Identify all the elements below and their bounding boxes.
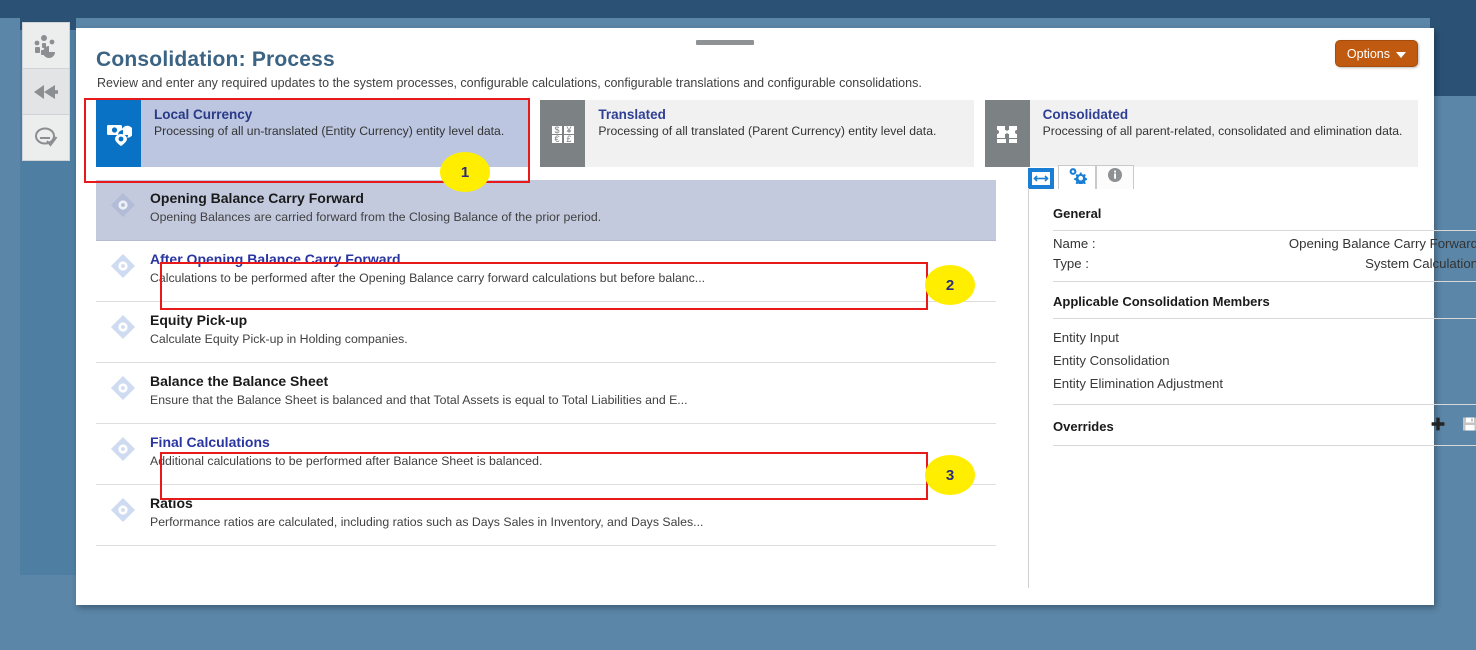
list-item: Entity Consolidation: [1053, 349, 1476, 372]
overrides-heading: Overrides: [1053, 419, 1414, 434]
table-row[interactable]: Balance the Balance Sheet Ensure that th…: [96, 363, 996, 424]
calculation-gear-diamond-icon: [96, 485, 150, 523]
process-card-description: Processing of all parent-related, consol…: [1043, 124, 1403, 139]
add-override-button[interactable]: [1430, 416, 1446, 437]
tab-info[interactable]: [1096, 165, 1134, 189]
panel-handle[interactable]: [696, 40, 754, 45]
list-item: Entity Input: [1053, 326, 1476, 349]
calculation-description: Opening Balances are carried forward fro…: [150, 209, 601, 225]
calculation-title: Equity Pick-up: [150, 311, 408, 329]
sidebar-item-consolidation-process[interactable]: [22, 68, 70, 115]
table-row[interactable]: Equity Pick-up Calculate Equity Pick-up …: [96, 302, 996, 363]
table-row[interactable]: Final Calculations Additional calculatio…: [96, 424, 996, 485]
panel-collapse-icon[interactable]: [1028, 168, 1054, 189]
people-chart-icon: [33, 34, 59, 58]
calculation-description: Calculate Equity Pick-up in Holding comp…: [150, 331, 408, 347]
process-card-description: Processing of all translated (Parent Cur…: [598, 124, 936, 139]
app-screen: Consolidation: Process Review and enter …: [0, 0, 1476, 650]
calculation-description: Ensure that the Balance Sheet is balance…: [150, 392, 688, 408]
calculation-title: Ratios: [150, 494, 703, 512]
panel-tabbar: [1028, 164, 1134, 189]
calculation-title: Final Calculations: [150, 433, 542, 451]
calculation-list: Opening Balance Carry Forward Opening Ba…: [96, 180, 996, 546]
sidebar-item-dimensions[interactable]: [22, 22, 70, 69]
process-card-consolidated[interactable]: Consolidated Processing of all parent-re…: [985, 100, 1418, 167]
options-button[interactable]: Options: [1335, 40, 1418, 67]
overrides-section-header: Overrides: [1053, 405, 1476, 445]
general-heading: General: [1053, 206, 1476, 230]
field-name: Name : Opening Balance Carry Forward: [1053, 231, 1476, 251]
add-icon: [1430, 416, 1446, 437]
properties-gear-icon: [1068, 167, 1087, 189]
field-type: Type : System Calculation: [1053, 251, 1476, 271]
tab-properties[interactable]: [1058, 165, 1096, 189]
calculation-description: Additional calculations to be performed …: [150, 453, 542, 469]
sidebar-rail: [22, 22, 72, 160]
svg-text:£: £: [566, 134, 571, 144]
annotation-badge-2: 2: [925, 265, 975, 305]
process-card-translated[interactable]: $ ¥ € £ Translated Processing of all tra…: [540, 100, 973, 167]
calculation-gear-diamond-icon: [96, 241, 150, 279]
table-row[interactable]: After Opening Balance Carry Forward Calc…: [96, 241, 996, 302]
puzzle-pieces-icon: [985, 100, 1030, 167]
process-card-title: Translated: [598, 106, 936, 123]
currency-pin-icon: [96, 100, 141, 167]
fast-forward-icon: [32, 82, 60, 102]
currency-grid-icon: $ ¥ € £: [540, 100, 585, 167]
table-row[interactable]: Opening Balance Carry Forward Opening Ba…: [96, 180, 996, 241]
members-heading: Applicable Consolidation Members: [1053, 282, 1476, 318]
table-row[interactable]: Ratios Performance ratios are calculated…: [96, 485, 996, 546]
sidebar-item-approvals[interactable]: [22, 114, 70, 161]
annotation-badge-1: 1: [440, 152, 490, 192]
window-top-band: [0, 0, 1476, 18]
field-label: Name :: [1053, 236, 1123, 251]
list-item: Entity Elimination Adjustment: [1053, 372, 1476, 395]
save-override-button[interactable]: [1462, 416, 1476, 437]
annotation-badge-3: 3: [925, 455, 975, 495]
page-title: Consolidation: Process: [96, 48, 335, 72]
calculation-gear-diamond-icon: [96, 363, 150, 401]
field-value: Opening Balance Carry Forward: [1123, 236, 1476, 251]
calculation-description: Performance ratios are calculated, inclu…: [150, 514, 703, 530]
calculation-gear-diamond-icon: [96, 180, 150, 218]
window-right-band: [1430, 0, 1476, 96]
info-icon: [1107, 167, 1123, 188]
properties-panel: General Name : Opening Balance Carry For…: [1028, 188, 1476, 588]
svg-text:€: €: [554, 134, 559, 144]
page-subtitle: Review and enter any required updates to…: [97, 76, 922, 90]
calculation-title: After Opening Balance Carry Forward: [150, 250, 705, 268]
circle-check-icon: [33, 126, 60, 149]
field-value: System Calculation: [1123, 256, 1476, 271]
main-panel: Consolidation: Process Review and enter …: [76, 28, 1434, 605]
calculation-gear-diamond-icon: [96, 302, 150, 340]
calculation-description: Calculations to be performed after the O…: [150, 270, 705, 286]
process-card-title: Local Currency: [154, 106, 504, 123]
options-button-label: Options: [1347, 47, 1390, 61]
calculation-title: Balance the Balance Sheet: [150, 372, 688, 390]
process-card-description: Processing of all un-translated (Entity …: [154, 124, 504, 139]
field-label: Type :: [1053, 256, 1123, 271]
process-card-strip: Local Currency Processing of all un-tran…: [96, 100, 1418, 167]
divider: [1053, 445, 1476, 446]
calculation-gear-diamond-icon: [96, 424, 150, 462]
chevron-down-icon: [1396, 52, 1406, 58]
save-icon: [1462, 416, 1476, 437]
calculation-title: Opening Balance Carry Forward: [150, 189, 601, 207]
process-card-title: Consolidated: [1043, 106, 1403, 123]
